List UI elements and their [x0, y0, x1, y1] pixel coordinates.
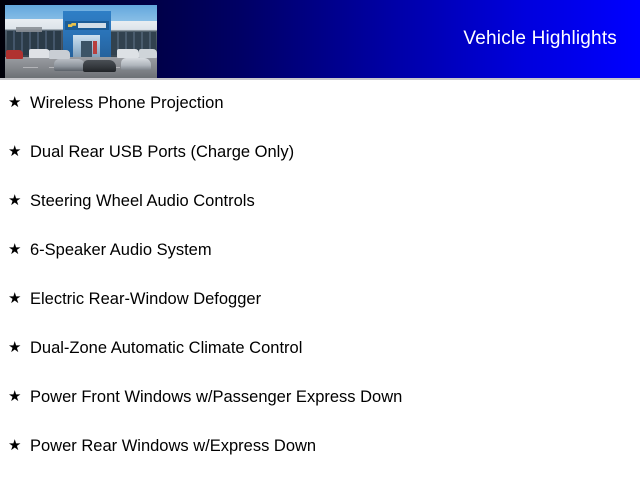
star-bullet-icon: ★	[8, 190, 30, 212]
star-bullet-icon: ★	[8, 92, 30, 114]
list-item-label: Dual-Zone Automatic Climate Control	[30, 337, 640, 359]
photo-vehicle	[6, 50, 23, 59]
dealership-photo	[5, 5, 157, 78]
star-bullet-icon: ★	[8, 435, 30, 457]
photo-vehicle	[83, 60, 116, 72]
list-item-label: Power Rear Windows w/Express Down	[30, 435, 640, 457]
photo-lot-stripe	[23, 67, 38, 68]
header-banner: Vehicle Highlights	[0, 0, 640, 78]
photo-vehicle	[54, 59, 85, 71]
list-item-label: Steering Wheel Audio Controls	[30, 190, 640, 212]
photo-dealer-name-sign	[16, 27, 42, 32]
vehicle-highlights-slide: Vehicle Highlights ★ Wireless Phone Proj…	[0, 0, 640, 480]
star-bullet-icon: ★	[8, 239, 30, 261]
star-bullet-icon: ★	[8, 288, 30, 310]
list-item-label: Wireless Phone Projection	[30, 92, 640, 114]
list-item-label: Power Front Windows w/Passenger Express …	[30, 386, 640, 408]
photo-vehicle	[139, 49, 157, 58]
star-bullet-icon: ★	[8, 337, 30, 359]
photo-vehicle	[29, 49, 50, 58]
list-item-label: Dual Rear USB Ports (Charge Only)	[30, 141, 640, 163]
list-item: ★ Dual Rear USB Ports (Charge Only)	[0, 141, 640, 190]
photo-vehicle	[49, 50, 70, 59]
list-item: ★ Dual-Zone Automatic Climate Control	[0, 337, 640, 386]
header-divider	[0, 78, 640, 80]
star-bullet-icon: ★	[8, 386, 30, 408]
list-item-label: Electric Rear-Window Defogger	[30, 288, 640, 310]
list-item: ★ Power Front Windows w/Passenger Expres…	[0, 386, 640, 435]
page-title: Vehicle Highlights	[463, 28, 617, 50]
list-item: ★ Power Rear Windows w/Express Down	[0, 435, 640, 484]
photo-brand-sign-text	[78, 23, 106, 28]
vehicle-highlights-list: ★ Wireless Phone Projection ★ Dual Rear …	[0, 92, 640, 484]
list-item: ★ Wireless Phone Projection	[0, 92, 640, 141]
photo-person	[93, 41, 97, 54]
photo-vehicle	[121, 58, 151, 70]
photo-vehicle	[117, 49, 139, 58]
list-item: ★ 6-Speaker Audio System	[0, 239, 640, 288]
list-item: ★ Steering Wheel Audio Controls	[0, 190, 640, 239]
star-bullet-icon: ★	[8, 141, 30, 163]
list-item-label: 6-Speaker Audio System	[30, 239, 640, 261]
list-item: ★ Electric Rear-Window Defogger	[0, 288, 640, 337]
